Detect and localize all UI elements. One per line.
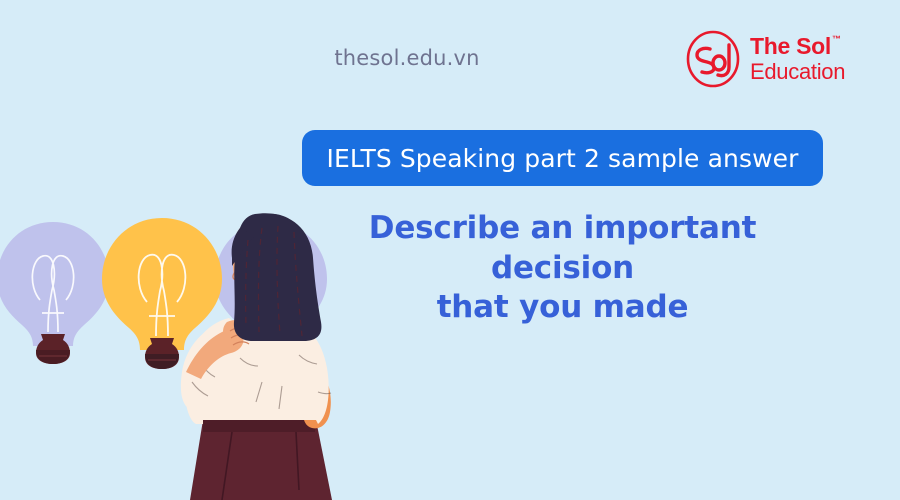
lightbulb-lavender <box>0 222 109 364</box>
lightbulb-yellow <box>102 218 222 369</box>
site-url-text: thesol.edu.vn <box>334 46 479 70</box>
sol-monogram-icon <box>683 29 743 89</box>
page-title-line1: Describe an important decision <box>302 209 823 288</box>
poster-canvas: thesol.edu.vn The Sol™ Education IELTS S… <box>0 0 900 500</box>
page-title-line2: that you made <box>302 288 823 328</box>
page-title: Describe an important decision that you … <box>302 209 823 328</box>
logo-name-line2: Education <box>750 61 845 83</box>
category-banner-label: IELTS Speaking part 2 sample answer <box>327 144 799 173</box>
logo-name-line1: The Sol <box>750 33 831 59</box>
brand-logo[interactable]: The Sol™ Education <box>683 29 858 89</box>
logo-wordmark: The Sol™ Education <box>750 35 845 83</box>
category-banner: IELTS Speaking part 2 sample answer <box>302 130 823 186</box>
trademark-icon: ™ <box>832 34 841 44</box>
